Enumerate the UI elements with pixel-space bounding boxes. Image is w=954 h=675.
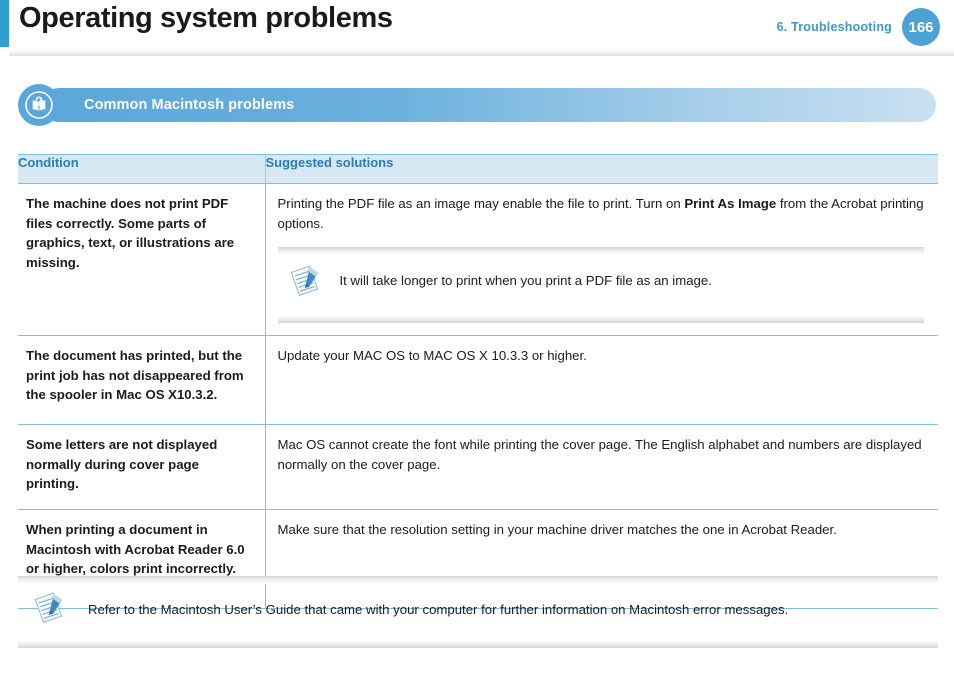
- note-body: It will take longer to print when you pr…: [278, 255, 925, 315]
- header-accent-bar: [0, 0, 9, 47]
- table-header-row: Condition Suggested solutions: [18, 155, 938, 184]
- page-header: Operating system problems 6. Troubleshoo…: [0, 0, 954, 52]
- solution-emphasis: Print As Image: [684, 196, 776, 211]
- section-banner-label: Common Macintosh problems: [84, 88, 294, 122]
- chapter-label: 6. Troubleshooting: [777, 20, 892, 34]
- column-header-condition: Condition: [18, 155, 265, 184]
- footer-note-bottom-rule: [18, 640, 938, 648]
- table-header: Condition Suggested solutions: [18, 155, 938, 184]
- table-body: The machine does not print PDF files cor…: [18, 184, 938, 609]
- cell-solution: Update your MAC OS to MAC OS X 10.3.3 or…: [265, 336, 938, 425]
- header-meta: 6. Troubleshooting 166: [777, 8, 940, 46]
- section-banner-container: Common Macintosh problems: [18, 88, 936, 122]
- footer-note-body: Refer to the Macintosh User’s Guide that…: [18, 584, 938, 640]
- note-text: It will take longer to print when you pr…: [340, 261, 712, 291]
- table-row: The document has printed, but the print …: [18, 336, 938, 425]
- header-divider: [9, 47, 954, 56]
- column-header-solutions: Suggested solutions: [265, 155, 938, 184]
- solution-text-prefix: Printing the PDF file as an image may en…: [278, 196, 685, 211]
- note-box: It will take longer to print when you pr…: [278, 247, 925, 323]
- solution-paragraph: Printing the PDF file as an image may en…: [278, 194, 929, 233]
- note-top-rule: [278, 247, 925, 255]
- footer-note-text: Refer to the Macintosh User’s Guide that…: [88, 588, 788, 620]
- cell-condition: The document has printed, but the print …: [18, 336, 265, 425]
- footer-note: Refer to the Macintosh User’s Guide that…: [18, 576, 938, 648]
- table-row: The machine does not print PDF files cor…: [18, 184, 938, 336]
- note-bottom-rule: [278, 315, 925, 323]
- cell-condition: The machine does not print PDF files cor…: [18, 184, 265, 336]
- solution-paragraph: Make sure that the resolution setting in…: [278, 520, 929, 540]
- book-question-icon: [18, 84, 60, 126]
- table-row: Some letters are not displayed normally …: [18, 425, 938, 510]
- cell-solution: Printing the PDF file as an image may en…: [265, 184, 938, 336]
- troubleshooting-table-container: Condition Suggested solutions The machin…: [18, 154, 938, 609]
- troubleshooting-table: Condition Suggested solutions The machin…: [18, 154, 938, 609]
- note-pencil-icon: [30, 588, 70, 628]
- cell-solution: Mac OS cannot create the font while prin…: [265, 425, 938, 510]
- solution-paragraph: Mac OS cannot create the font while prin…: [278, 435, 929, 474]
- cell-condition: Some letters are not displayed normally …: [18, 425, 265, 510]
- solution-paragraph: Update your MAC OS to MAC OS X 10.3.3 or…: [278, 346, 929, 366]
- page-title: Operating system problems: [19, 2, 393, 35]
- footer-note-top-rule: [18, 576, 938, 584]
- note-pencil-icon: [286, 261, 326, 301]
- page-number-badge: 166: [902, 8, 940, 46]
